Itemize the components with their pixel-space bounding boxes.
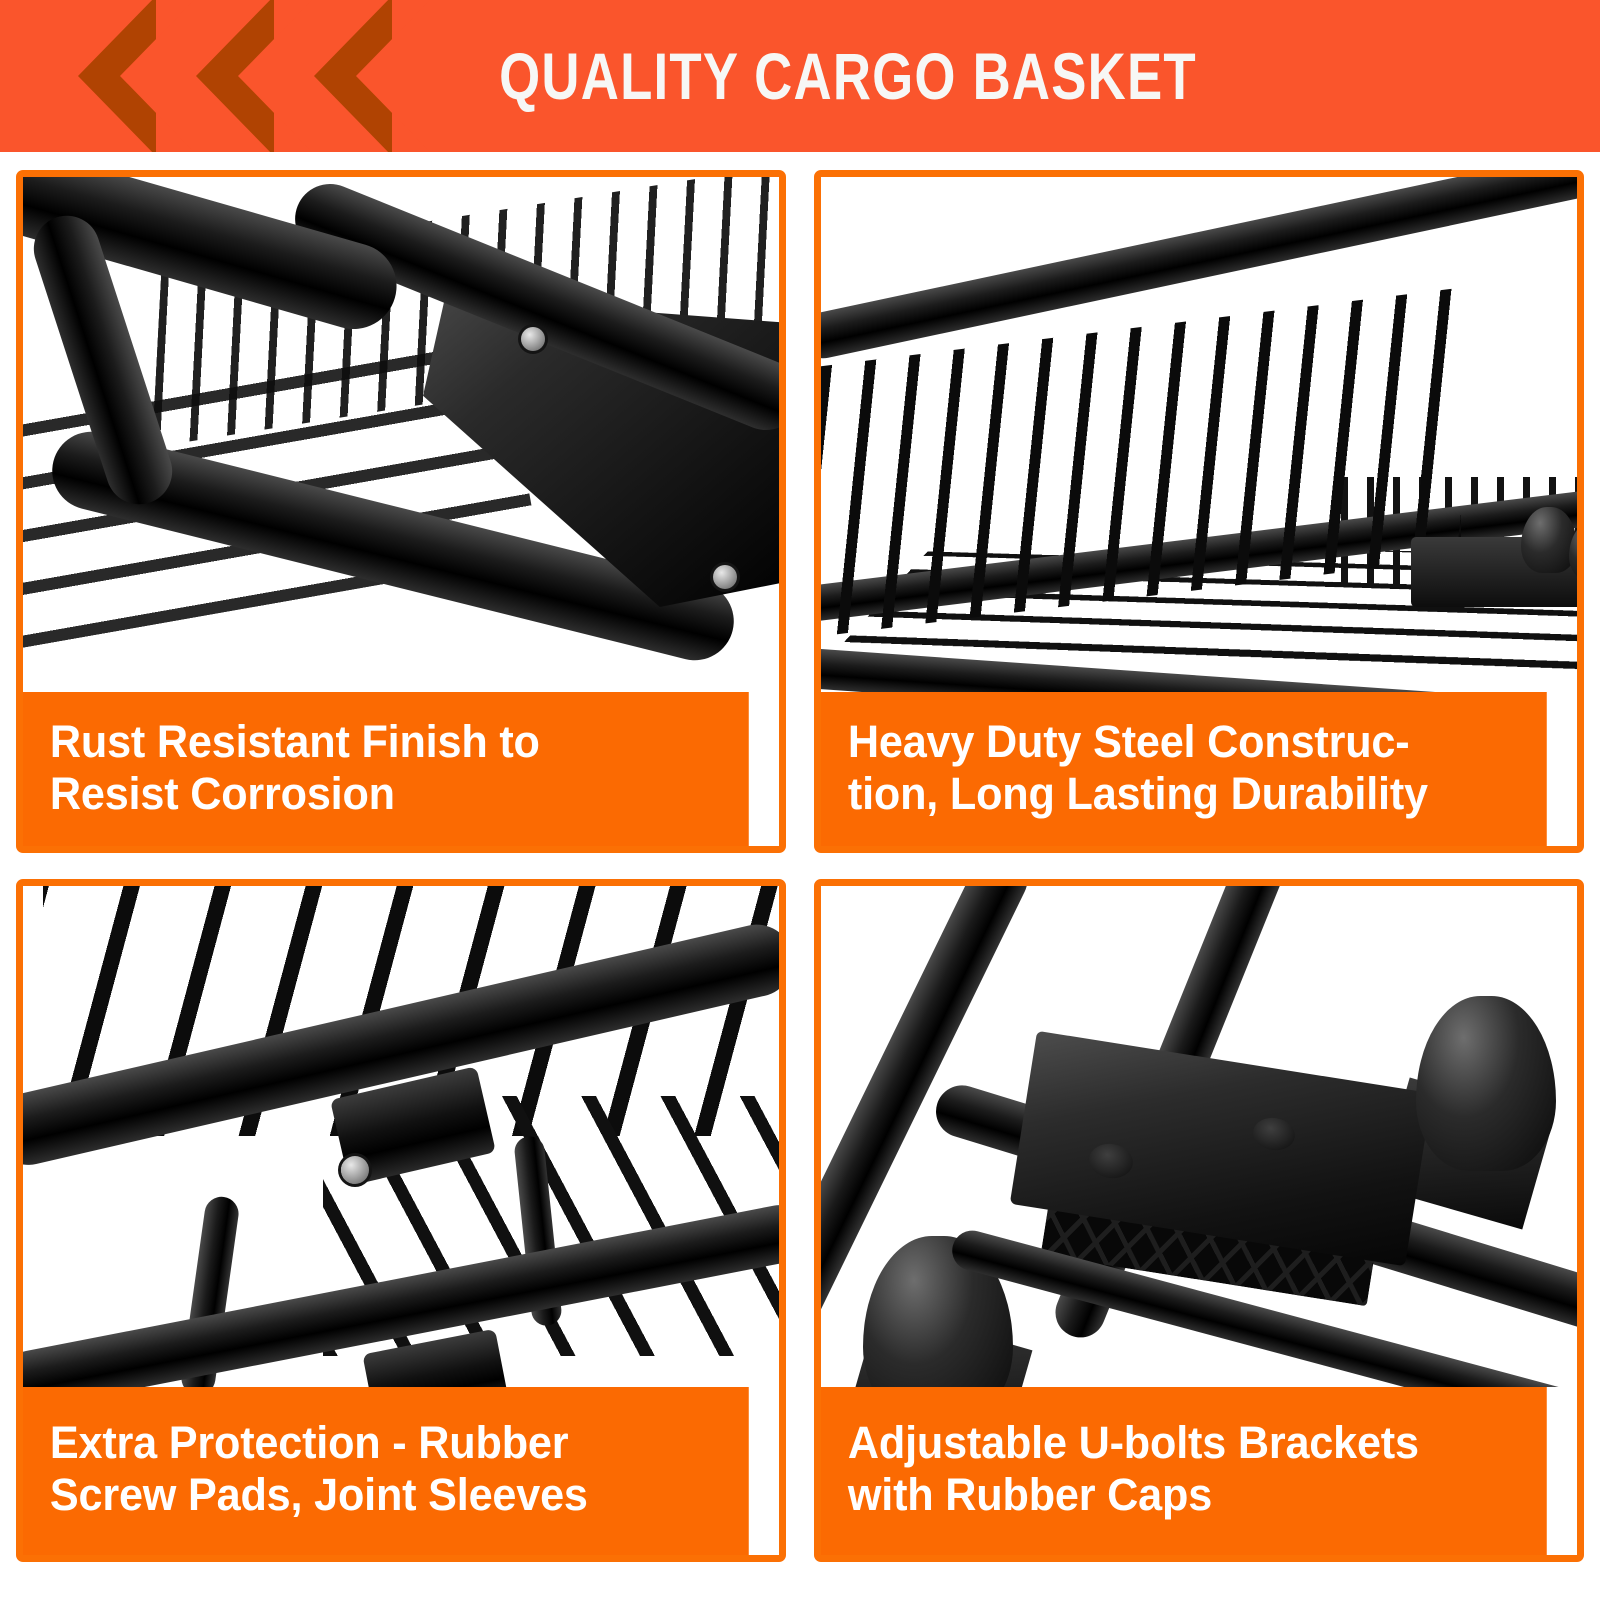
product-photo-adjustable-u-bolts — [821, 886, 1577, 1387]
feature-caption: Adjustable U-bolts Brackets with Rubber … — [821, 1387, 1547, 1555]
feature-card-rust-resistant-finish: Rust Resistant Finish to Resist Corrosio… — [16, 170, 786, 853]
caption-line-2: Resist Corrosion — [50, 768, 722, 820]
rubber-cap-knob — [1521, 507, 1577, 573]
feature-card-extra-protection: Extra Protection - Rubber Screw Pads, Jo… — [16, 879, 786, 1562]
feature-caption: Rust Resistant Finish to Resist Corrosio… — [23, 692, 749, 846]
header-banner: QUALITY CARGO BASKET — [0, 0, 1600, 152]
infographic-page: QUALITY CARGO BASKET Rust Resistant Fini… — [0, 0, 1600, 1600]
feature-grid: Rust Resistant Finish to Resist Corrosio… — [16, 170, 1584, 1570]
product-photo-extra-protection — [23, 886, 779, 1387]
caption-line-2: Screw Pads, Joint Sleeves — [50, 1469, 722, 1521]
product-photo-rust-resistant-finish — [23, 177, 779, 692]
screw-icon — [341, 1156, 369, 1184]
caption-line-1: Rust Resistant Finish to — [50, 716, 722, 768]
rubber-cap-knob — [1416, 996, 1556, 1171]
feature-caption: Extra Protection - Rubber Screw Pads, Jo… — [23, 1387, 749, 1555]
product-photo-heavy-duty-steel — [821, 177, 1577, 692]
caption-line-1: Heavy Duty Steel Construc- — [848, 716, 1520, 768]
feature-card-adjustable-u-bolts: Adjustable U-bolts Brackets with Rubber … — [814, 879, 1584, 1562]
screw-icon — [713, 565, 737, 589]
caption-line-2: with Rubber Caps — [848, 1469, 1520, 1521]
feature-caption: Heavy Duty Steel Construc- tion, Long La… — [821, 692, 1547, 846]
caption-line-2: tion, Long Lasting Durability — [848, 768, 1520, 820]
caption-line-1: Adjustable U-bolts Brackets — [848, 1417, 1520, 1469]
feature-card-heavy-duty-steel: Heavy Duty Steel Construc- tion, Long La… — [814, 170, 1584, 853]
screw-icon — [521, 327, 545, 351]
page-title: QUALITY CARGO BASKET — [160, 0, 1440, 152]
caption-line-1: Extra Protection - Rubber — [50, 1417, 722, 1469]
